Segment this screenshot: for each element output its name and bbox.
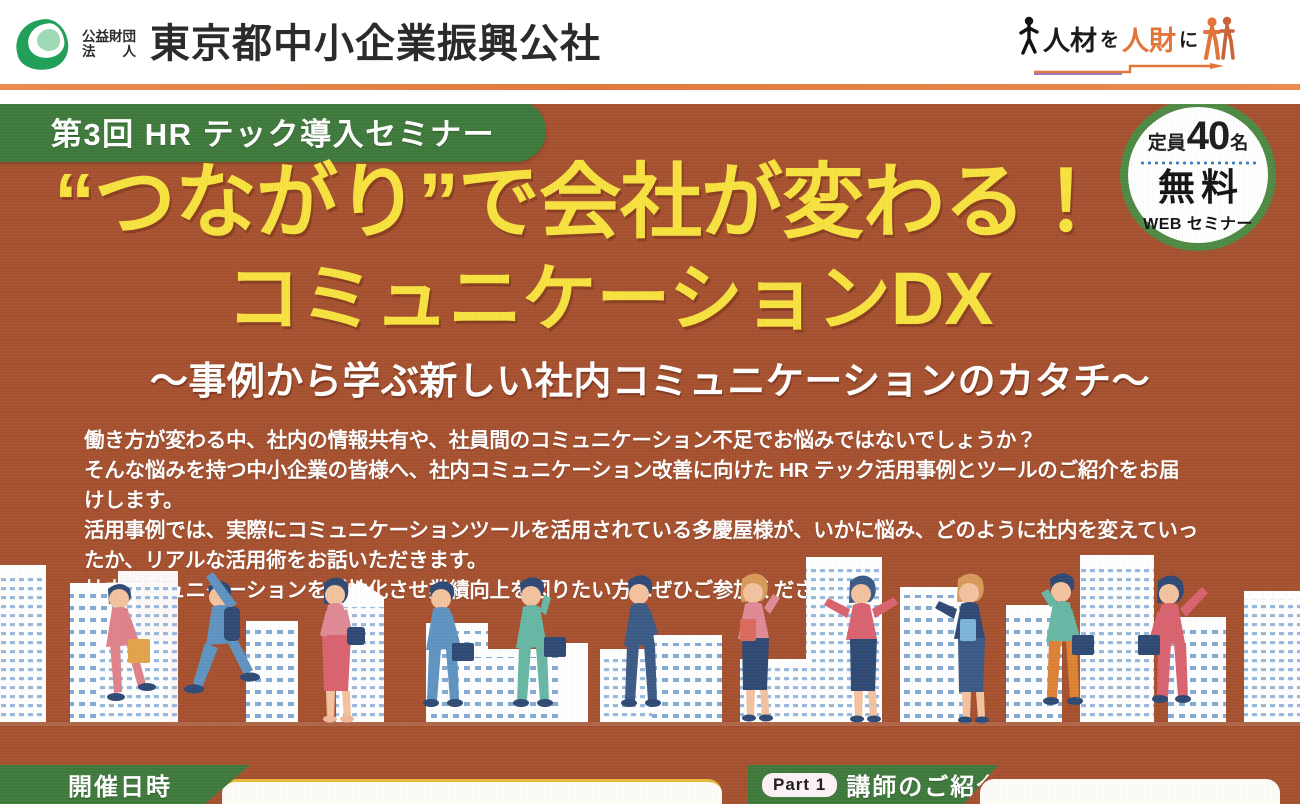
kaku-char: 財 (109, 29, 123, 44)
rising-arrow-icon (1034, 62, 1229, 71)
header-divider (0, 84, 1300, 90)
green-leaf-logo-icon (14, 16, 72, 72)
walking-person-icon (1018, 16, 1040, 56)
kaku-char: 法 (82, 44, 96, 59)
organization-legal-form: 公 益 財 団 法 人 (82, 29, 136, 59)
speaker-card (980, 779, 1280, 804)
schedule-banner-label: 開催日時 (68, 767, 172, 802)
tagline-particle1: を (1100, 26, 1119, 56)
flyer-page: 公 益 財 団 法 人 東京都中小企業振興公社 人材 を (0, 0, 1300, 804)
capacity-prefix: 定員 (1148, 134, 1186, 153)
kaku-char (96, 44, 110, 59)
section-banners: 開催日時 Part 1 講師のご紹介 (0, 765, 1300, 804)
schedule-card (222, 779, 722, 804)
section-banner-speaker: Part 1 講師のご紹介 (748, 765, 998, 804)
organization-logo-block: 公 益 財 団 法 人 東京都中小企業振興公社 (14, 16, 601, 72)
capacity-number: 40 (1187, 116, 1230, 156)
kaku-char: 人 (123, 44, 137, 59)
city-people-illustration (0, 531, 1300, 726)
kaku-char: 公 (82, 29, 96, 44)
tagline-part2: 人財 (1122, 26, 1176, 56)
speaker-banner-label: 講師のご紹介 (846, 767, 1002, 802)
body-paragraph: 働き方が変わる中、社内の情報共有や、社員間のコミュニケーション不足でお悩みではな… (84, 426, 1224, 456)
kaku-char: 団 (123, 29, 137, 44)
tagline-particle2: に (1179, 26, 1198, 56)
ribbon-label: 第3回 HR テック導入セミナー (51, 109, 495, 154)
capacity-line: 定員 40 名 (1148, 116, 1249, 156)
capacity-suffix: 名 (1230, 134, 1248, 152)
page-header: 公 益 財 団 法 人 東京都中小企業振興公社 人材 を (0, 0, 1300, 88)
tagline-part1: 人材 (1043, 26, 1097, 56)
price-label: 無料 (1158, 168, 1244, 208)
body-paragraph: けします。 (84, 486, 1224, 516)
kaku-char: 益 (96, 29, 110, 44)
title-line-1: “つながり”で会社が変わる！ (0, 162, 1160, 244)
walking-couple-icon (1201, 16, 1223, 56)
kaku-char (109, 44, 123, 59)
seminar-series-ribbon: 第3回 HR テック導入セミナー (0, 104, 546, 162)
organization-name: 東京都中小企業振興公社 (150, 23, 601, 65)
part-number-badge: Part 1 (762, 773, 837, 797)
title-line-2: コミュニケーションDX (0, 262, 1220, 336)
body-paragraph: そんな悩みを持つ中小企業の皆様へ、社内コミュニケーション改善に向けた HR テッ… (84, 456, 1224, 486)
tagline-logo: 人材 を 人財 に (1018, 10, 1288, 78)
subtitle: ～事例から学ぶ新しい社内コミュニケーションのカタチ～ (0, 362, 1300, 404)
section-banner-schedule: 開催日時 (0, 765, 250, 804)
main-panel: 第3回 HR テック導入セミナー 定員 40 名 無料 WEB セミナー “つな… (0, 104, 1300, 804)
